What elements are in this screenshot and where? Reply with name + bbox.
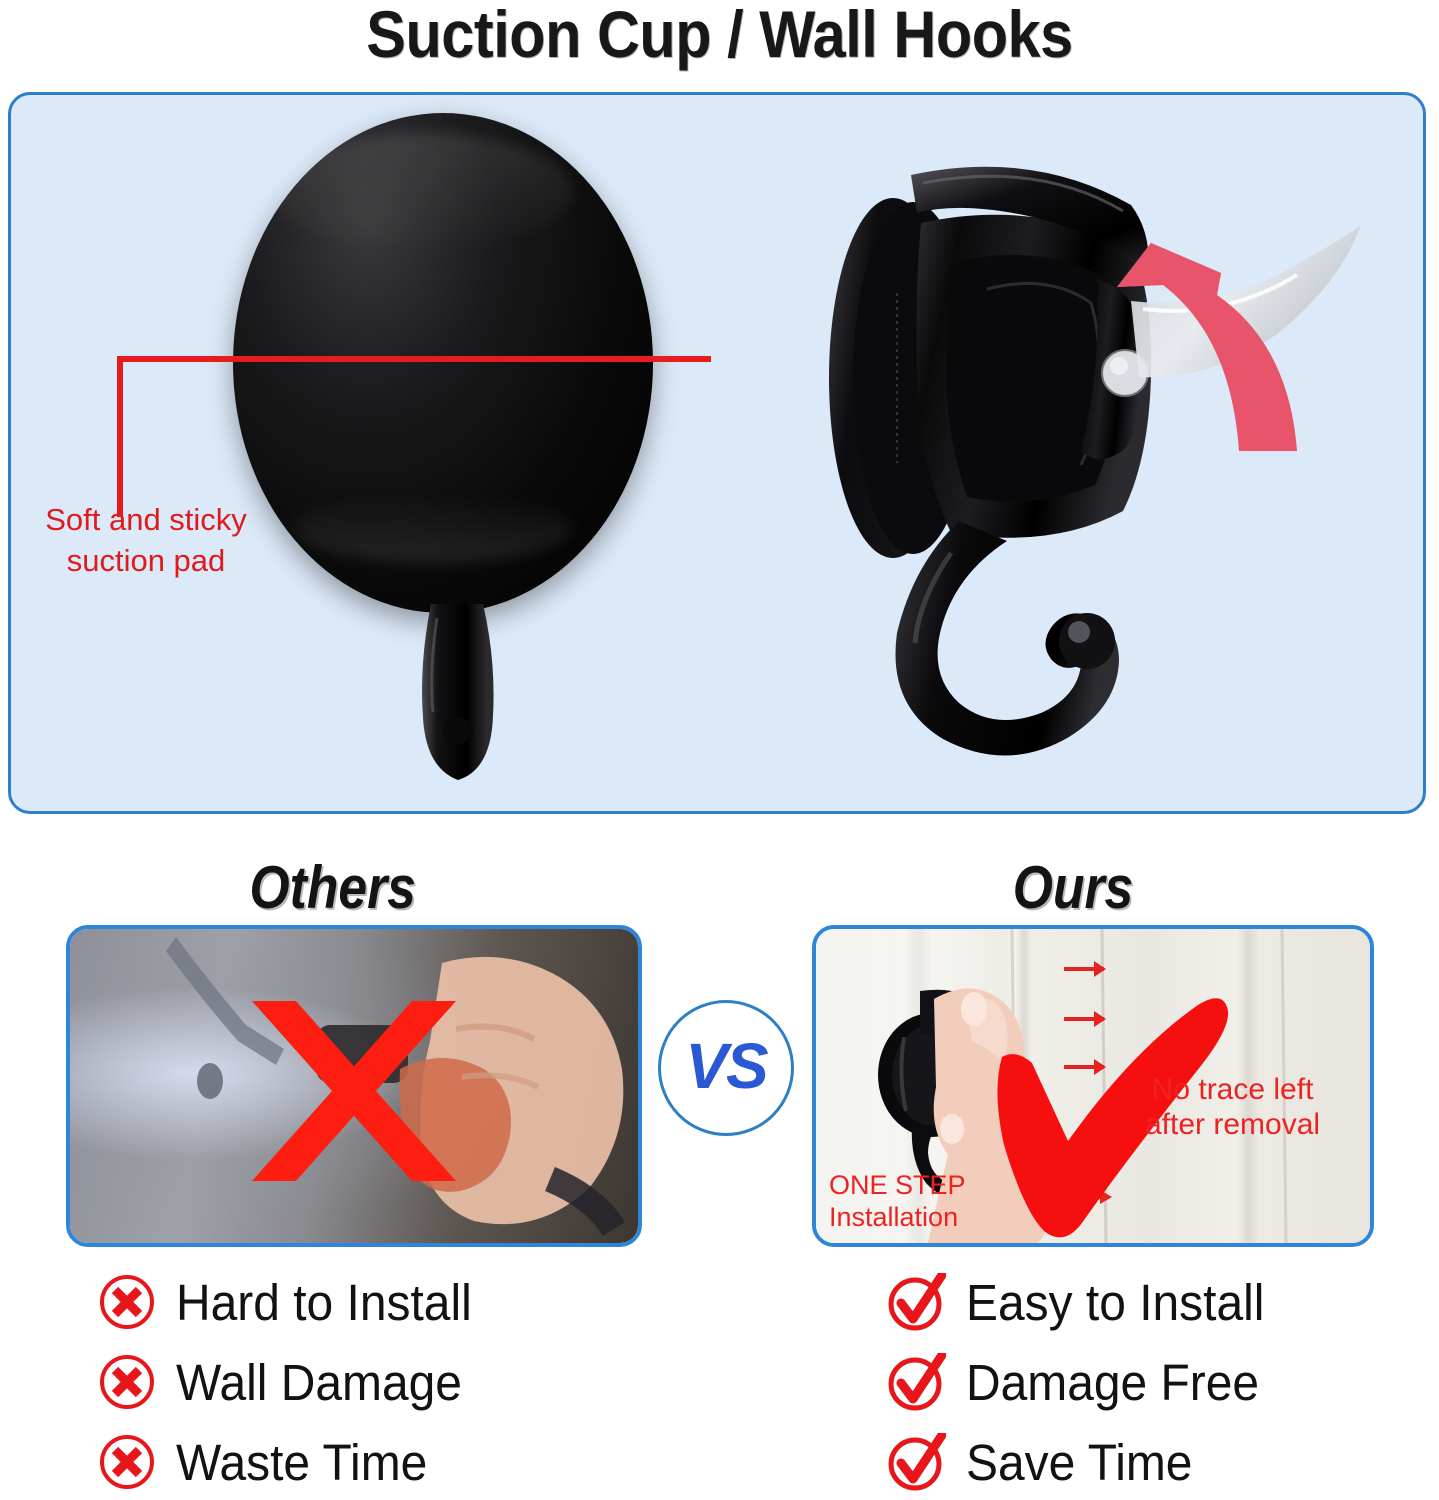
suction-disc-face xyxy=(233,113,653,613)
list-item: Easy to Install xyxy=(888,1262,1283,1342)
feature-label: Damage Free xyxy=(966,1353,1259,1412)
lever-motion-arrow xyxy=(1021,225,1321,455)
page-title: Suction Cup / Wall Hooks xyxy=(72,0,1367,72)
disc-highlight-bottom xyxy=(293,493,573,563)
ours-feature-list: Easy to Install Damage Free Save Time xyxy=(888,1262,1283,1500)
circle-x-icon xyxy=(98,1273,156,1331)
disc-highlight-top xyxy=(273,133,573,253)
others-photo-scene xyxy=(70,929,638,1243)
circle-check-icon xyxy=(888,1273,946,1331)
list-item: Save Time xyxy=(888,1422,1283,1500)
feature-label: Save Time xyxy=(966,1433,1192,1492)
no-trace-line-2: after removal xyxy=(1145,1107,1320,1142)
list-item: Hard to Install xyxy=(98,1262,491,1342)
list-item: Damage Free xyxy=(888,1342,1283,1422)
ours-heading: Ours xyxy=(1013,853,1133,922)
product-photo-panel: Soft and sticky suction pad xyxy=(8,92,1426,814)
feature-label: Easy to Install xyxy=(966,1273,1264,1332)
front-hook-shape xyxy=(417,600,499,785)
suction-pad-callout: Soft and sticky suction pad xyxy=(21,499,271,581)
circle-x-icon xyxy=(98,1433,156,1491)
circle-check-icon xyxy=(888,1433,946,1491)
feature-label: Hard to Install xyxy=(176,1273,472,1332)
side-view-product-image xyxy=(801,113,1371,803)
no-trace-line-1: No trace left xyxy=(1145,1072,1320,1107)
list-item: Waste Time xyxy=(98,1422,491,1500)
list-item: Wall Damage xyxy=(98,1342,491,1422)
one-step-annotation: ONE STEP Installation xyxy=(829,1170,966,1234)
one-step-line-1: ONE STEP xyxy=(829,1170,966,1202)
circle-x-icon xyxy=(98,1353,156,1411)
feature-label: Wall Damage xyxy=(176,1353,462,1412)
others-photo xyxy=(66,925,642,1247)
product-infographic: Suction Cup / Wall Hooks xyxy=(0,0,1439,1500)
others-heading: Others xyxy=(250,853,416,922)
callout-line-2: suction pad xyxy=(21,540,271,581)
front-view-product-image xyxy=(221,105,691,805)
others-feature-list: Hard to Install Wall Damage Waste Time xyxy=(98,1262,491,1500)
feature-label: Waste Time xyxy=(176,1433,427,1492)
vs-badge: VS xyxy=(658,1000,794,1136)
one-step-line-2: Installation xyxy=(829,1202,966,1234)
circle-check-icon xyxy=(888,1353,946,1411)
no-trace-annotation: No trace left after removal xyxy=(1145,1072,1320,1143)
callout-line-1: Soft and sticky xyxy=(21,499,271,540)
vs-label: VS xyxy=(685,1029,766,1103)
side-view-shape xyxy=(801,113,1371,803)
